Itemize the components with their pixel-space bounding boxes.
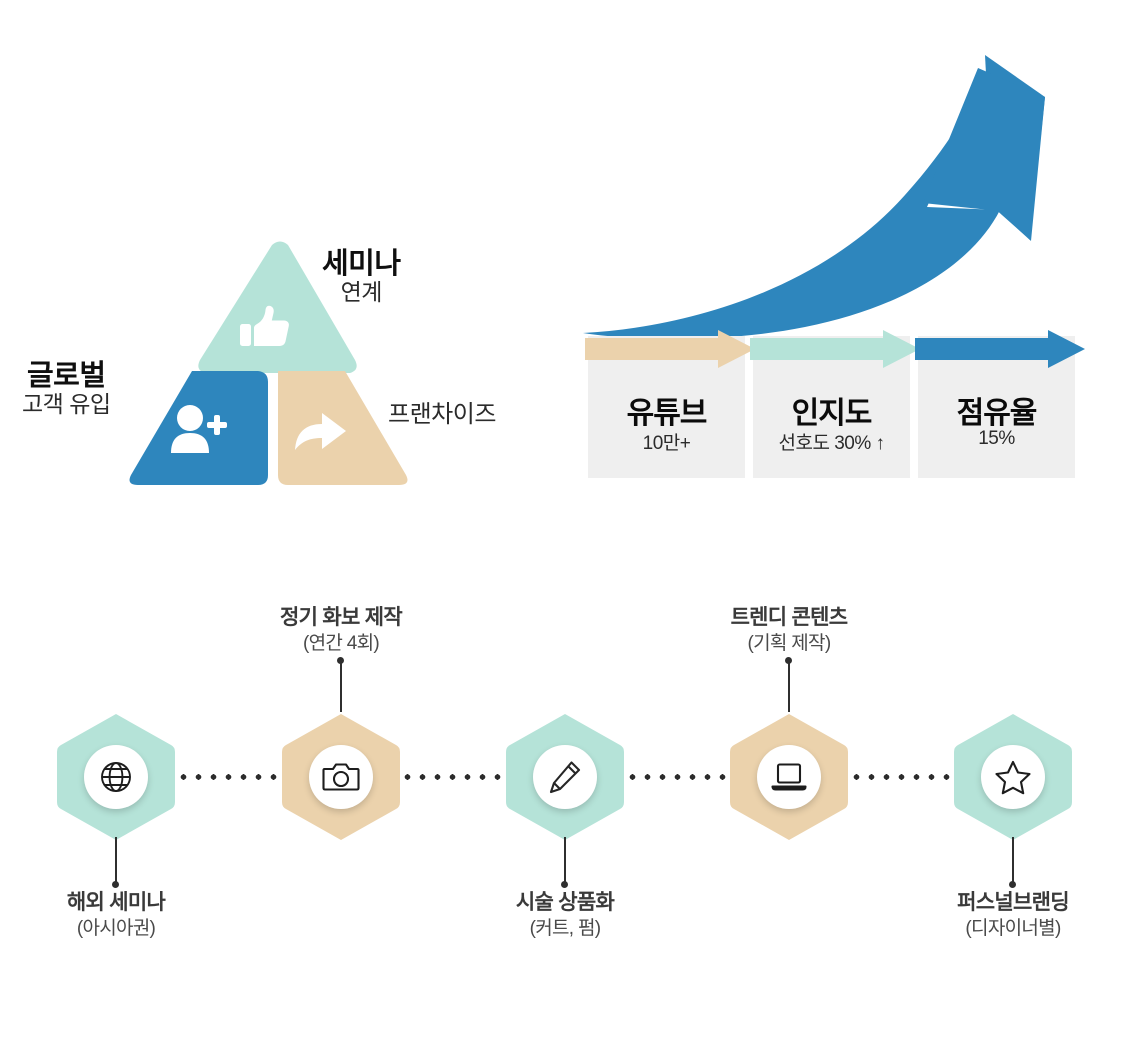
funnel-step-sub: 선호도 30% ↑ [753, 428, 910, 455]
camera-icon [322, 760, 360, 794]
step-funnel: 유튜브 10만+ 인지도 선호도 30% ↑ 점유율 15% [585, 330, 1080, 485]
timeline-connector [625, 774, 737, 780]
funnel-arrow-2 [750, 330, 920, 368]
timeline-stem [1012, 837, 1014, 885]
funnel-step-sub: 15% [918, 428, 1075, 450]
curved-growth-arrow-icon [575, 35, 1075, 345]
infographic-canvas: 세미나 연계 글로벌 고객 유입 프랜차이즈 유튜브 10만+ 인지도 [0, 0, 1130, 1038]
timeline-caption-1: 해외 세미나 (아시아권) [0, 890, 256, 941]
timeline-stem-dot [561, 881, 568, 888]
funnel-arrow-1 [585, 330, 755, 368]
timeline-caption-4: 트렌디 콘텐츠 (기획 제작) [649, 605, 929, 656]
triangle-segment-left[interactable] [130, 371, 268, 485]
seminar-title: 세미나 [322, 248, 401, 280]
timeline-caption-sub: (디자이너별) [873, 918, 1130, 941]
timeline-stem [340, 663, 342, 712]
timeline-node-3[interactable] [506, 712, 624, 842]
timeline-caption-sub: (커트, 펌) [425, 918, 705, 941]
icon-badge [757, 745, 821, 809]
timeline-caption-title: 퍼스널브랜딩 [873, 890, 1130, 915]
timeline-caption-5: 퍼스널브랜딩 (디자이너별) [873, 890, 1130, 941]
timeline-caption-sub: (연간 4회) [201, 633, 481, 656]
funnel-step-title: 유튜브 [588, 388, 745, 432]
timeline-caption-title: 해외 세미나 [0, 890, 256, 915]
funnel-step-sub: 10만+ [588, 428, 745, 455]
triangle-label-franchise: 프랜차이즈 [388, 402, 496, 429]
icon-badge [981, 745, 1045, 809]
triangle-cluster: 세미나 연계 글로벌 고객 유입 프랜차이즈 [0, 230, 560, 500]
timeline-stem [564, 837, 566, 885]
triangle-label-seminar: 세미나 연계 [322, 248, 401, 306]
funnel-arrow-3 [915, 330, 1085, 368]
timeline-stem-dot [337, 657, 344, 664]
timeline-connector [400, 774, 512, 780]
star-icon [994, 758, 1032, 796]
global-sub: 고객 유입 [22, 392, 111, 418]
timeline-stem-dot [785, 657, 792, 664]
funnel-step-title: 인지도 [753, 388, 910, 432]
pencil-icon [547, 759, 583, 795]
timeline-stem-dot [1009, 881, 1016, 888]
laptop-icon [770, 761, 808, 793]
globe-icon [97, 758, 135, 796]
timeline-connector [849, 774, 961, 780]
timeline-connector [176, 774, 288, 780]
icon-badge [309, 745, 373, 809]
timeline-node-4[interactable] [730, 712, 848, 842]
icon-badge [84, 745, 148, 809]
timeline-caption-title: 트렌디 콘텐츠 [649, 605, 929, 630]
global-title: 글로벌 [22, 360, 111, 392]
hex-timeline: 해외 세미나 (아시아권) 정기 화보 제작 (연간 4회) [0, 585, 1130, 985]
franchise-title: 프랜차이즈 [388, 401, 496, 428]
timeline-stem-dot [112, 881, 119, 888]
triangle-label-global: 글로벌 고객 유입 [22, 360, 111, 418]
icon-badge [533, 745, 597, 809]
timeline-caption-title: 시술 상품화 [425, 890, 705, 915]
timeline-node-2[interactable] [282, 712, 400, 842]
timeline-caption-sub: (기획 제작) [649, 633, 929, 656]
timeline-caption-sub: (아시아권) [0, 918, 256, 941]
timeline-node-5[interactable] [954, 712, 1072, 842]
timeline-stem [788, 663, 790, 712]
timeline-node-1[interactable] [57, 712, 175, 842]
timeline-caption-title: 정기 화보 제작 [201, 605, 481, 630]
seminar-sub: 연계 [322, 280, 401, 306]
timeline-caption-2: 정기 화보 제작 (연간 4회) [201, 605, 481, 656]
timeline-caption-3: 시술 상품화 (커트, 펌) [425, 890, 705, 941]
funnel-step-title: 점유율 [918, 388, 1075, 432]
timeline-stem [115, 837, 117, 885]
